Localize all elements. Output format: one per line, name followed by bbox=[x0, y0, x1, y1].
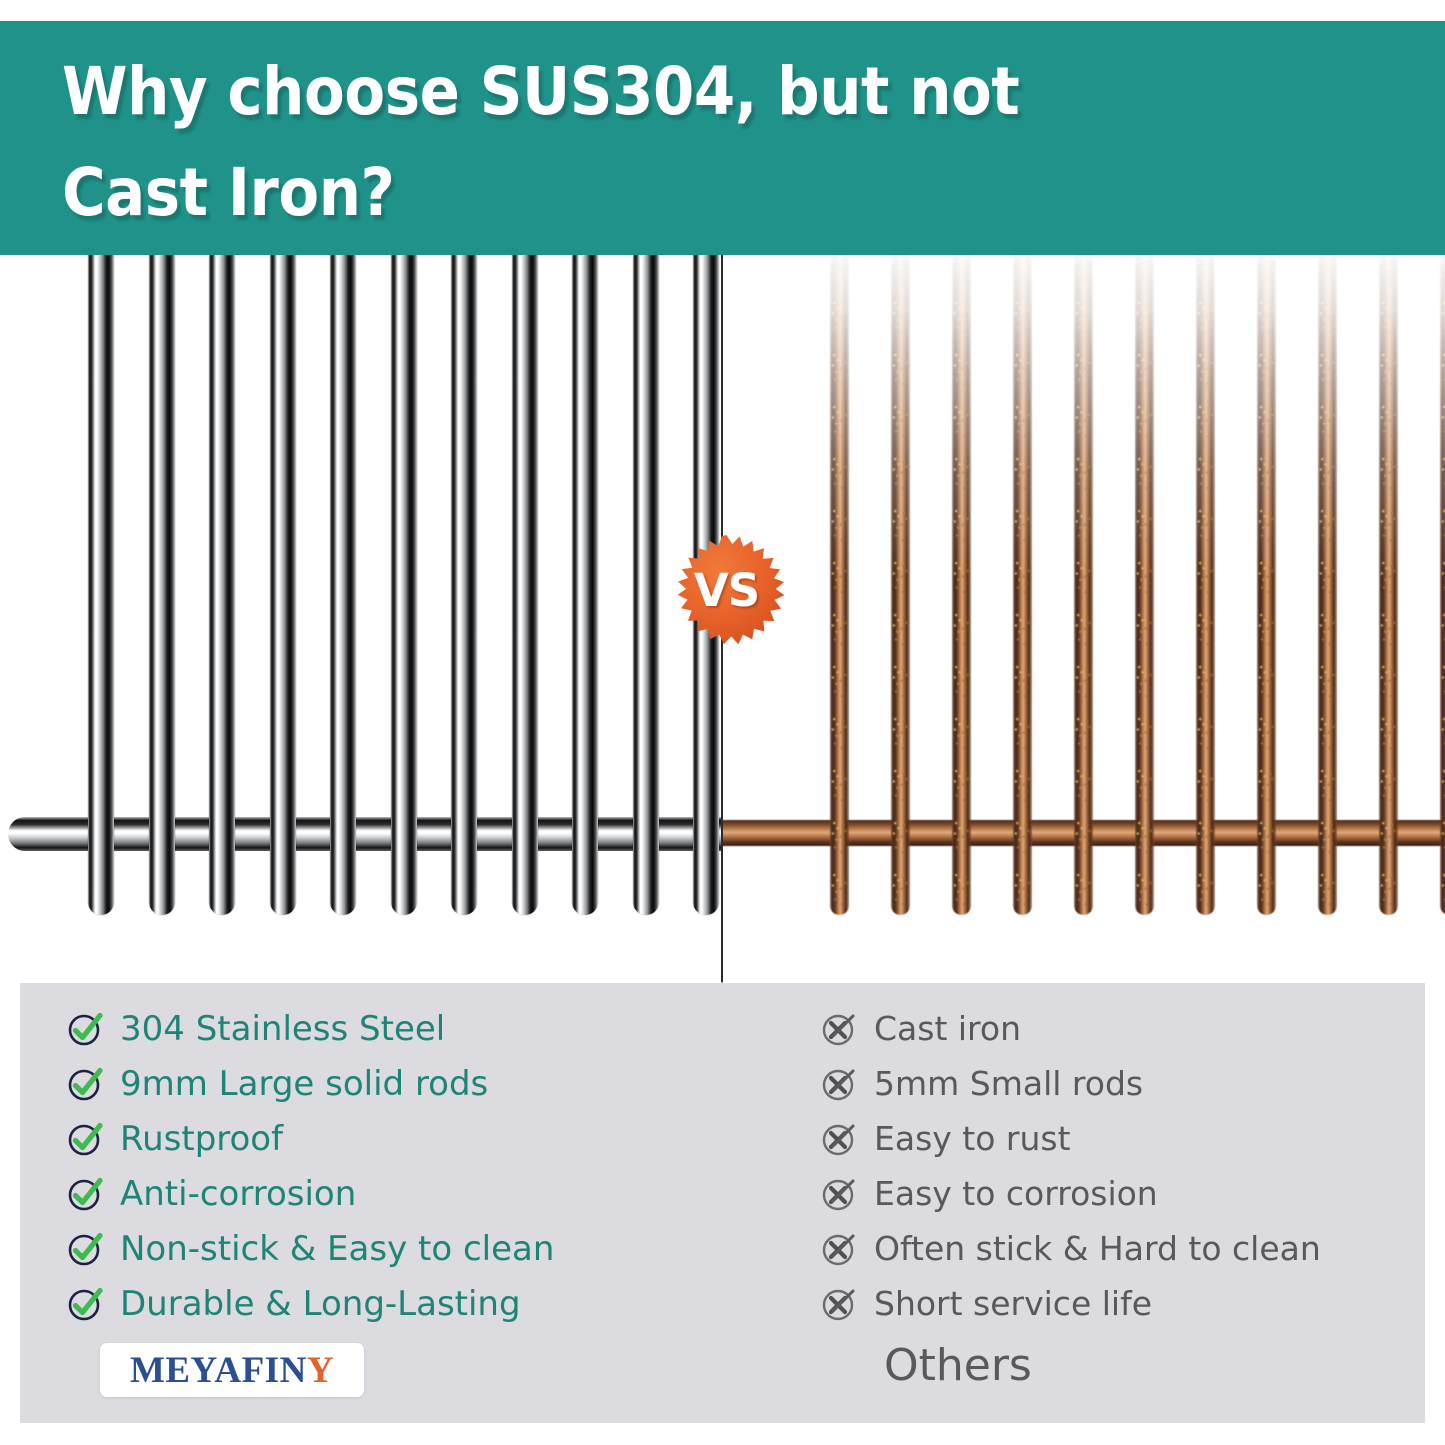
feature-row: Anti-corrosion bbox=[66, 1166, 726, 1221]
steel-rod bbox=[451, 255, 477, 915]
feature-row: 304 Stainless Steel bbox=[66, 1001, 726, 1056]
vs-label: VS bbox=[668, 533, 785, 650]
check-circle-icon bbox=[66, 1064, 106, 1104]
feature-label: Anti-corrosion bbox=[120, 1174, 356, 1214]
brand-logo-main: MEYAFIN bbox=[130, 1350, 307, 1391]
rusted-cast-iron-grate-image bbox=[722, 255, 1445, 983]
feature-row: Rustproof bbox=[66, 1111, 726, 1166]
rust-rod bbox=[952, 255, 971, 915]
steel-crossbar bbox=[8, 817, 722, 851]
rust-rod bbox=[1135, 255, 1154, 915]
feature-label: Durable & Long-Lasting bbox=[120, 1284, 521, 1324]
check-circle-icon bbox=[66, 1229, 106, 1269]
feature-label: Rustproof bbox=[120, 1119, 283, 1159]
feature-row: Non-stick & Easy to clean bbox=[66, 1221, 726, 1276]
steel-rod bbox=[391, 255, 417, 915]
vs-badge: VS bbox=[668, 533, 785, 650]
cross-circle-icon bbox=[820, 1064, 860, 1104]
feature-label: Short service life bbox=[874, 1284, 1152, 1324]
feature-label: Cast iron bbox=[874, 1009, 1021, 1049]
header-banner: Why choose SUS304, but not Cast Iron? bbox=[0, 21, 1445, 255]
page-title: Why choose SUS304, but not Cast Iron? bbox=[62, 41, 1187, 243]
cross-circle-icon bbox=[820, 1009, 860, 1049]
others-feature-list: Cast iron5mm Small rodsEasy to rustEasy … bbox=[820, 1001, 1420, 1331]
steel-rod bbox=[330, 255, 356, 915]
steel-rod bbox=[572, 255, 598, 915]
steel-rod bbox=[88, 255, 114, 915]
rust-rod bbox=[1440, 255, 1445, 915]
rust-rod bbox=[1074, 255, 1093, 915]
feature-row: Durable & Long-Lasting bbox=[66, 1276, 726, 1331]
check-circle-icon bbox=[66, 1119, 106, 1159]
cross-circle-icon bbox=[820, 1174, 860, 1214]
rust-rod bbox=[1196, 255, 1215, 915]
feature-label: 9mm Large solid rods bbox=[120, 1064, 488, 1104]
feature-row: Cast iron bbox=[820, 1001, 1420, 1056]
feature-label: Easy to rust bbox=[874, 1119, 1071, 1159]
steel-rod bbox=[149, 255, 175, 915]
feature-row: Easy to rust bbox=[820, 1111, 1420, 1166]
feature-label: Non-stick & Easy to clean bbox=[120, 1229, 554, 1269]
stainless-steel-grate-image bbox=[0, 255, 722, 983]
feature-row: Easy to corrosion bbox=[820, 1166, 1420, 1221]
brand-logo-text: MEYAFINY bbox=[130, 1349, 334, 1392]
feature-label: Easy to corrosion bbox=[874, 1174, 1158, 1214]
cross-circle-icon bbox=[820, 1119, 860, 1159]
brand-logo-accent-letter: Y bbox=[307, 1350, 334, 1391]
steel-rod bbox=[209, 255, 235, 915]
feature-label: 304 Stainless Steel bbox=[120, 1009, 445, 1049]
check-circle-icon bbox=[66, 1174, 106, 1214]
rust-rod bbox=[891, 255, 910, 915]
feature-row: Often stick & Hard to clean bbox=[820, 1221, 1420, 1276]
infographic-page: Why choose SUS304, but not Cast Iron? VS bbox=[0, 0, 1445, 1445]
cross-circle-icon bbox=[820, 1284, 860, 1324]
rust-rod bbox=[1318, 255, 1337, 915]
steel-rod bbox=[270, 255, 296, 915]
feature-label: 5mm Small rods bbox=[874, 1064, 1143, 1104]
rust-rod bbox=[830, 255, 849, 915]
cross-circle-icon bbox=[820, 1229, 860, 1269]
check-circle-icon bbox=[66, 1284, 106, 1324]
stainless-feature-list: 304 Stainless Steel9mm Large solid rodsR… bbox=[66, 1001, 726, 1331]
steel-rod bbox=[512, 255, 538, 915]
rust-rod bbox=[1379, 255, 1398, 915]
others-label: Others bbox=[884, 1340, 1032, 1391]
feature-row: 9mm Large solid rods bbox=[66, 1056, 726, 1111]
steel-rod bbox=[633, 255, 659, 915]
feature-label: Often stick & Hard to clean bbox=[874, 1229, 1321, 1269]
check-circle-icon bbox=[66, 1009, 106, 1049]
rust-rod bbox=[1013, 255, 1032, 915]
feature-row: 5mm Small rods bbox=[820, 1056, 1420, 1111]
brand-logo: MEYAFINY bbox=[100, 1343, 364, 1397]
feature-row: Short service life bbox=[820, 1276, 1420, 1331]
rust-rod bbox=[1257, 255, 1276, 915]
